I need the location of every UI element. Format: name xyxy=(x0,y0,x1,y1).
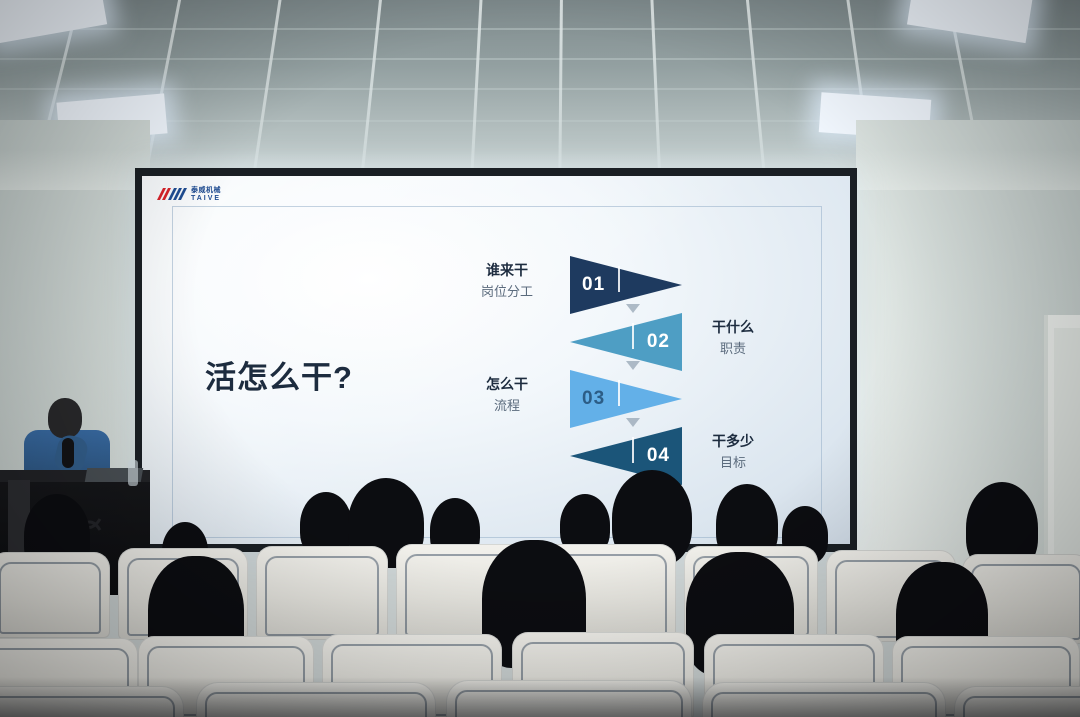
arrow-number: 01 xyxy=(582,274,605,296)
diagram-row: 02 干什么 职责 xyxy=(450,313,780,371)
diagram-row: 谁来干 岗位分工 01 xyxy=(450,256,780,314)
chair xyxy=(0,552,110,638)
chair xyxy=(256,546,388,640)
logo-english-name: TAIVE xyxy=(191,195,221,202)
logo-chinese-name: 泰威机械 xyxy=(191,187,221,194)
presentation-room-photo: 泰威机械 TAIVE 活怎么干? 谁来干 岗位分工 01 02 xyxy=(0,0,1080,717)
item-label: 谁来干 岗位分工 xyxy=(452,260,562,302)
item-heading: 怎么干 xyxy=(452,374,562,394)
ceiling-light-panel xyxy=(907,0,1033,43)
item-subtext: 职责 xyxy=(678,340,788,359)
item-subtext: 流程 xyxy=(452,397,562,416)
slide-title: 活怎么干? xyxy=(205,352,353,397)
arrow-number: 04 xyxy=(647,445,670,467)
presenter-head xyxy=(48,398,82,438)
item-heading: 谁来干 xyxy=(452,260,562,280)
taive-logo-mark xyxy=(157,186,187,203)
item-heading: 干多少 xyxy=(678,431,788,451)
arrow-divider xyxy=(632,437,634,463)
company-logo: 泰威机械 TAIVE xyxy=(157,186,221,203)
ceiling-light-panel xyxy=(0,0,107,43)
floor-shadow xyxy=(0,677,1080,717)
item-label: 怎么干 流程 xyxy=(452,374,562,416)
item-subtext: 岗位分工 xyxy=(452,283,562,302)
item-label: 干多少 目标 xyxy=(678,431,788,473)
step-connector-arrow-icon xyxy=(626,304,640,313)
step-connector-arrow-icon xyxy=(626,418,640,427)
arrow-number: 03 xyxy=(582,388,605,410)
audience-area xyxy=(0,470,1080,717)
arrow-divider xyxy=(618,266,620,292)
step-connector-arrow-icon xyxy=(626,361,640,370)
item-label: 干什么 职责 xyxy=(678,317,788,359)
microphone xyxy=(62,438,74,468)
diagram-row: 怎么干 流程 03 xyxy=(450,370,780,428)
arrow-divider xyxy=(632,323,634,349)
arrow-number: 02 xyxy=(647,331,670,353)
process-arrow-diagram: 谁来干 岗位分工 01 02 干什么 职责 xyxy=(450,250,780,500)
logo-wordmark: 泰威机械 TAIVE xyxy=(191,187,221,202)
arrow-divider xyxy=(618,380,620,406)
item-heading: 干什么 xyxy=(678,317,788,337)
